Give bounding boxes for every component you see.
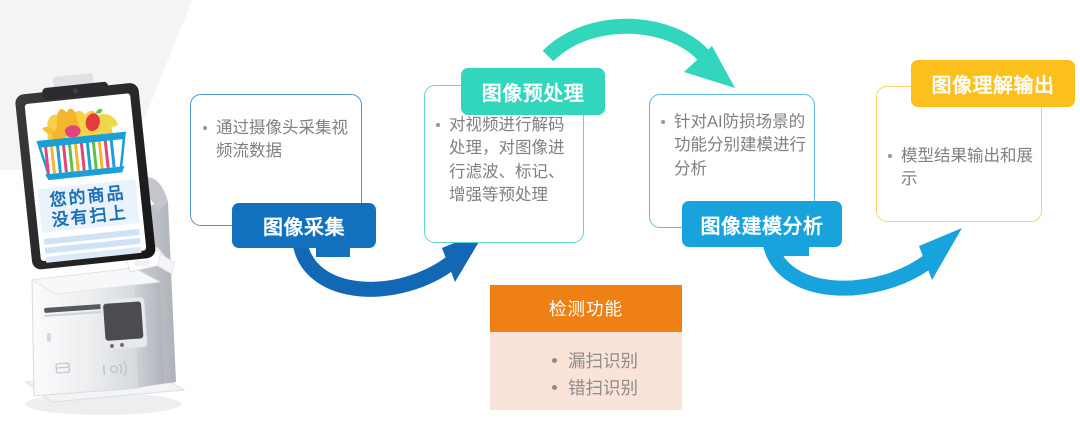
step-badge-image-understanding-output[interactable]: 图像理解输出 — [911, 60, 1075, 107]
badge-tail — [316, 245, 350, 257]
step-card-4-bullets: 模型结果输出和展示 — [887, 145, 1033, 192]
detection-panel-title: 检测功能 — [549, 296, 623, 321]
flow-diagram-canvas: 您的商品 没有扫上 通过摄像头采 — [0, 0, 1080, 421]
bullet-item: 模型结果输出和展示 — [887, 145, 1033, 192]
step-card-2-bullets: 对视频进行解码处理，对图像进行滤波、标记、增强等预处理 — [435, 114, 575, 208]
step-badge-label: 图像理解输出 — [932, 69, 1055, 98]
step-badge-image-preprocessing[interactable]: 图像预处理 — [461, 68, 605, 115]
step-badge-label: 图像建模分析 — [701, 210, 824, 239]
step-badge-label: 图像采集 — [263, 211, 345, 240]
step-card-3-body: 针对AI防损场景的功能分别建模进行分析 — [650, 95, 814, 181]
detection-panel-list: 漏扫识别 错扫识别 — [490, 348, 682, 402]
step-card-3-bullets: 针对AI防损场景的功能分别建模进行分析 — [660, 111, 806, 181]
detection-panel-body: 漏扫识别 错扫识别 — [490, 332, 682, 402]
badge-tail — [775, 244, 809, 256]
self-checkout-kiosk-illustration: 您的商品 没有扫上 — [8, 52, 198, 420]
step-badge-image-modeling-analysis[interactable]: 图像建模分析 — [682, 201, 842, 247]
list-item: 错扫识别 — [552, 375, 682, 402]
detection-function-panel: 检测功能 漏扫识别 错扫识别 — [490, 285, 682, 410]
bullet-item: 对视频进行解码处理，对图像进行滤波、标记、增强等预处理 — [435, 114, 575, 208]
detection-panel-header: 检测功能 — [490, 285, 682, 332]
step-card-1-body: 通过摄像头采集视频流数据 — [191, 95, 361, 164]
bullet-item: 通过摄像头采集视频流数据 — [202, 117, 351, 164]
bullet-item: 针对AI防损场景的功能分别建模进行分析 — [660, 111, 806, 181]
list-item: 漏扫识别 — [552, 348, 682, 375]
step-badge-label: 图像预处理 — [482, 77, 585, 106]
step-card-1-bullets: 通过摄像头采集视频流数据 — [202, 117, 351, 164]
step-badge-image-capture[interactable]: 图像采集 — [232, 203, 376, 248]
